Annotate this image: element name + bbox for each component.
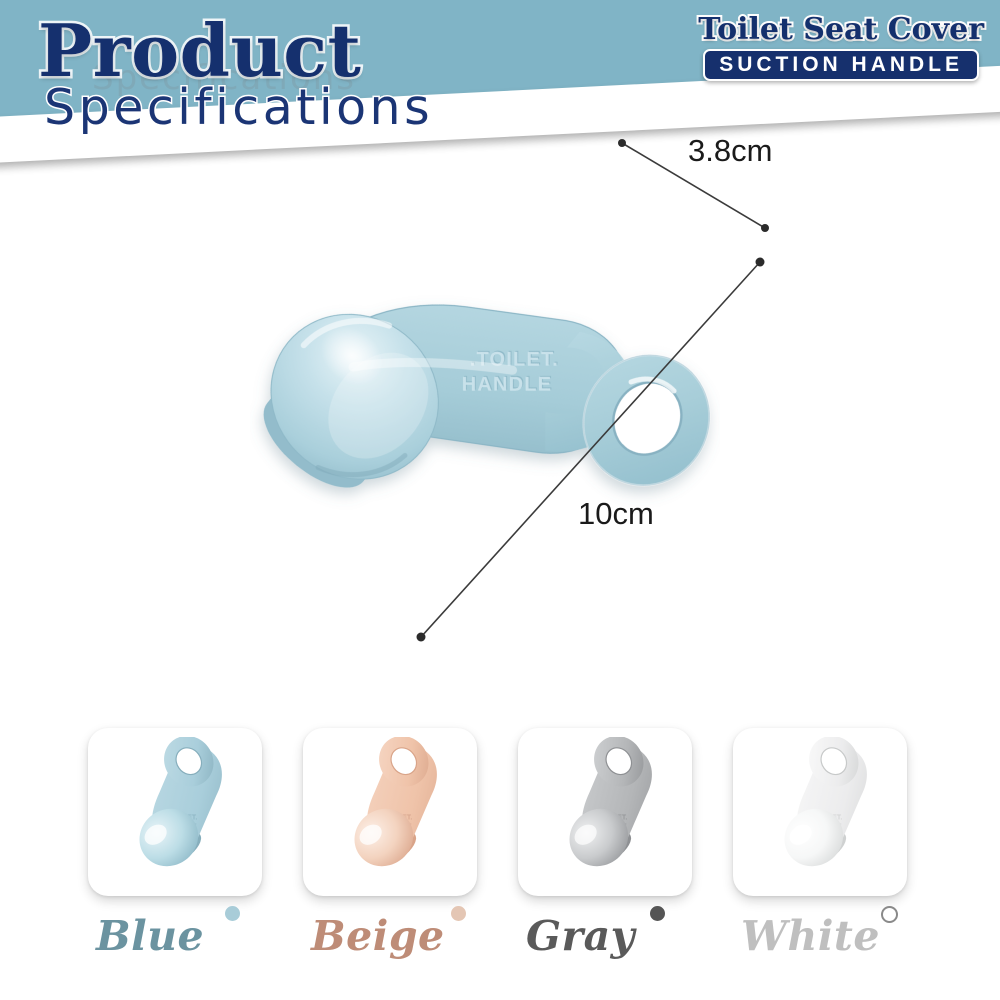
color-dot-white bbox=[881, 906, 898, 923]
color-card-white[interactable]: .TOILET. HANDLE bbox=[733, 728, 907, 896]
color-name-white: White bbox=[741, 916, 880, 957]
dimension-label-length: 10cm bbox=[578, 496, 654, 532]
color-caption-white: White bbox=[733, 906, 907, 986]
color-card-blue[interactable]: .TOILET. HANDLE bbox=[88, 728, 262, 896]
hero-product-svg: .TOILET. .TOILET. HANDLE HANDLE bbox=[250, 175, 720, 645]
color-option-white[interactable]: .TOILET. HANDLE White bbox=[733, 728, 907, 986]
color-name-blue: Blue bbox=[96, 916, 204, 957]
svg-text:HANDLE: HANDLE bbox=[462, 374, 553, 396]
color-caption-blue: Blue bbox=[88, 906, 262, 986]
mini-product-gray: .TOILET. HANDLE bbox=[530, 737, 680, 887]
color-name-gray: Gray bbox=[526, 916, 635, 957]
color-dot-gray bbox=[650, 906, 665, 921]
color-caption-beige: Beige bbox=[303, 906, 477, 986]
color-name-beige: Beige bbox=[311, 916, 445, 957]
mini-product-blue: .TOILET. HANDLE bbox=[100, 737, 250, 887]
color-card-beige[interactable]: .TOILET. HANDLE bbox=[303, 728, 477, 896]
dimension-label-width: 3.8cm bbox=[688, 133, 772, 169]
color-option-gray[interactable]: .TOILET. HANDLE Gray bbox=[518, 728, 692, 986]
color-option-beige[interactable]: .TOILET. HANDLE Beige bbox=[303, 728, 477, 986]
title-line-specifications: Specifications bbox=[44, 83, 433, 132]
hero-product-image: .TOILET. .TOILET. HANDLE HANDLE bbox=[250, 175, 720, 645]
product-badge: Toilet Seat Cover SUCTION HANDLE bbox=[698, 14, 984, 81]
color-dot-blue bbox=[225, 906, 240, 921]
title-line-product: Product bbox=[38, 16, 433, 85]
mini-product-white: .TOILET. HANDLE bbox=[745, 737, 895, 887]
color-caption-gray: Gray bbox=[518, 906, 692, 986]
color-dot-beige bbox=[451, 906, 466, 921]
badge-subtitle: SUCTION HANDLE bbox=[719, 53, 963, 76]
mini-product-beige: .TOILET. HANDLE bbox=[315, 737, 465, 887]
color-card-gray[interactable]: .TOILET. HANDLE bbox=[518, 728, 692, 896]
badge-subtitle-plate: SUCTION HANDLE bbox=[703, 49, 979, 81]
color-option-blue[interactable]: .TOILET. HANDLE Blue bbox=[88, 728, 262, 986]
color-options-row: .TOILET. HANDLE Blue bbox=[0, 728, 1000, 988]
page-title: Product Specifications bbox=[38, 16, 433, 132]
badge-title: Toilet Seat Cover bbox=[698, 14, 984, 46]
poster-canvas: Specifications Product Specifications To… bbox=[0, 0, 1000, 1000]
